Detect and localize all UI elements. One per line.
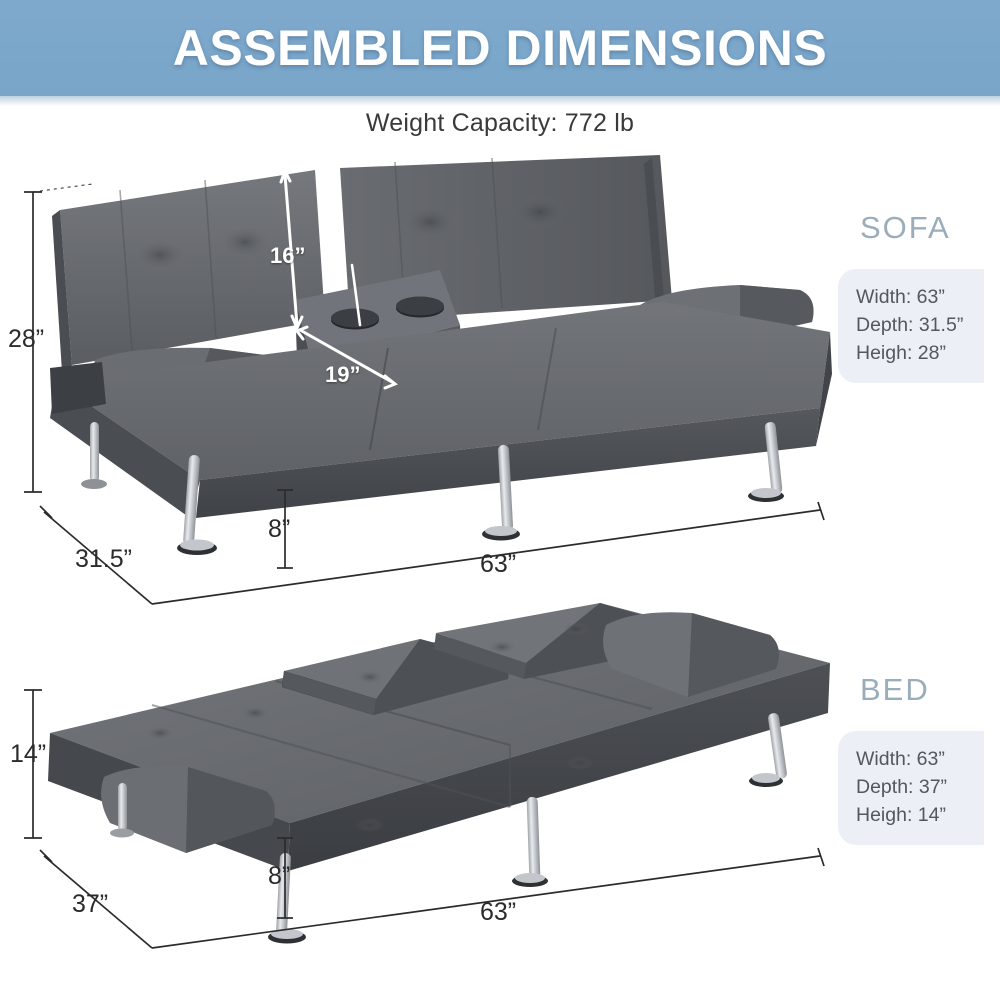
sofa-backrest-left (52, 170, 325, 372)
bed-illustration (40, 585, 840, 955)
bed-leg-height-label: 8” (268, 862, 290, 891)
bed-info-box: Width: 63” Depth: 37” Heigh: 14” (838, 731, 984, 845)
sofa-leg-height-label: 8” (268, 515, 290, 544)
sofa-info-title: SOFA (860, 210, 951, 246)
bed-spec-depth: Depth: 37” (856, 773, 974, 801)
bed-info-group: BED (860, 672, 930, 708)
bed-spec-height: Heigh: 14” (856, 801, 974, 829)
header-shadow (0, 96, 1000, 106)
dimension-diagram-page: ASSEMBLED DIMENSIONS Weight Capacity: 77… (0, 0, 1000, 1000)
sofa-height-label: 28” (8, 325, 44, 354)
bed-depth-label: 37” (72, 890, 108, 919)
sofa-seat-depth-label: 19” (325, 362, 360, 388)
sofa-spec-width: Width: 63” (856, 283, 974, 311)
bed-info-title: BED (860, 672, 930, 708)
bed-spec-width: Width: 63” (856, 745, 974, 773)
sofa-backrest-height-label: 16” (270, 243, 305, 269)
bed-height-label: 14” (10, 740, 46, 769)
sofa-spec-height: Heigh: 28” (856, 339, 974, 367)
chrome-leg-icon-bed-mid (512, 797, 548, 887)
weight-capacity-text: Weight Capacity: 772 lb (0, 109, 1000, 138)
sofa-info-box: Width: 63” Depth: 31.5” Heigh: 28” (838, 269, 984, 383)
sofa-width-label: 63” (480, 550, 516, 579)
bed-width-label: 63” (480, 898, 516, 927)
sofa-info-group: SOFA (860, 210, 951, 246)
sofa-spec-depth: Depth: 31.5” (856, 311, 974, 339)
sofa-illustration (40, 150, 840, 590)
page-title: ASSEMBLED DIMENSIONS (0, 0, 1000, 96)
sofa-depth-label: 31.5” (75, 545, 132, 574)
